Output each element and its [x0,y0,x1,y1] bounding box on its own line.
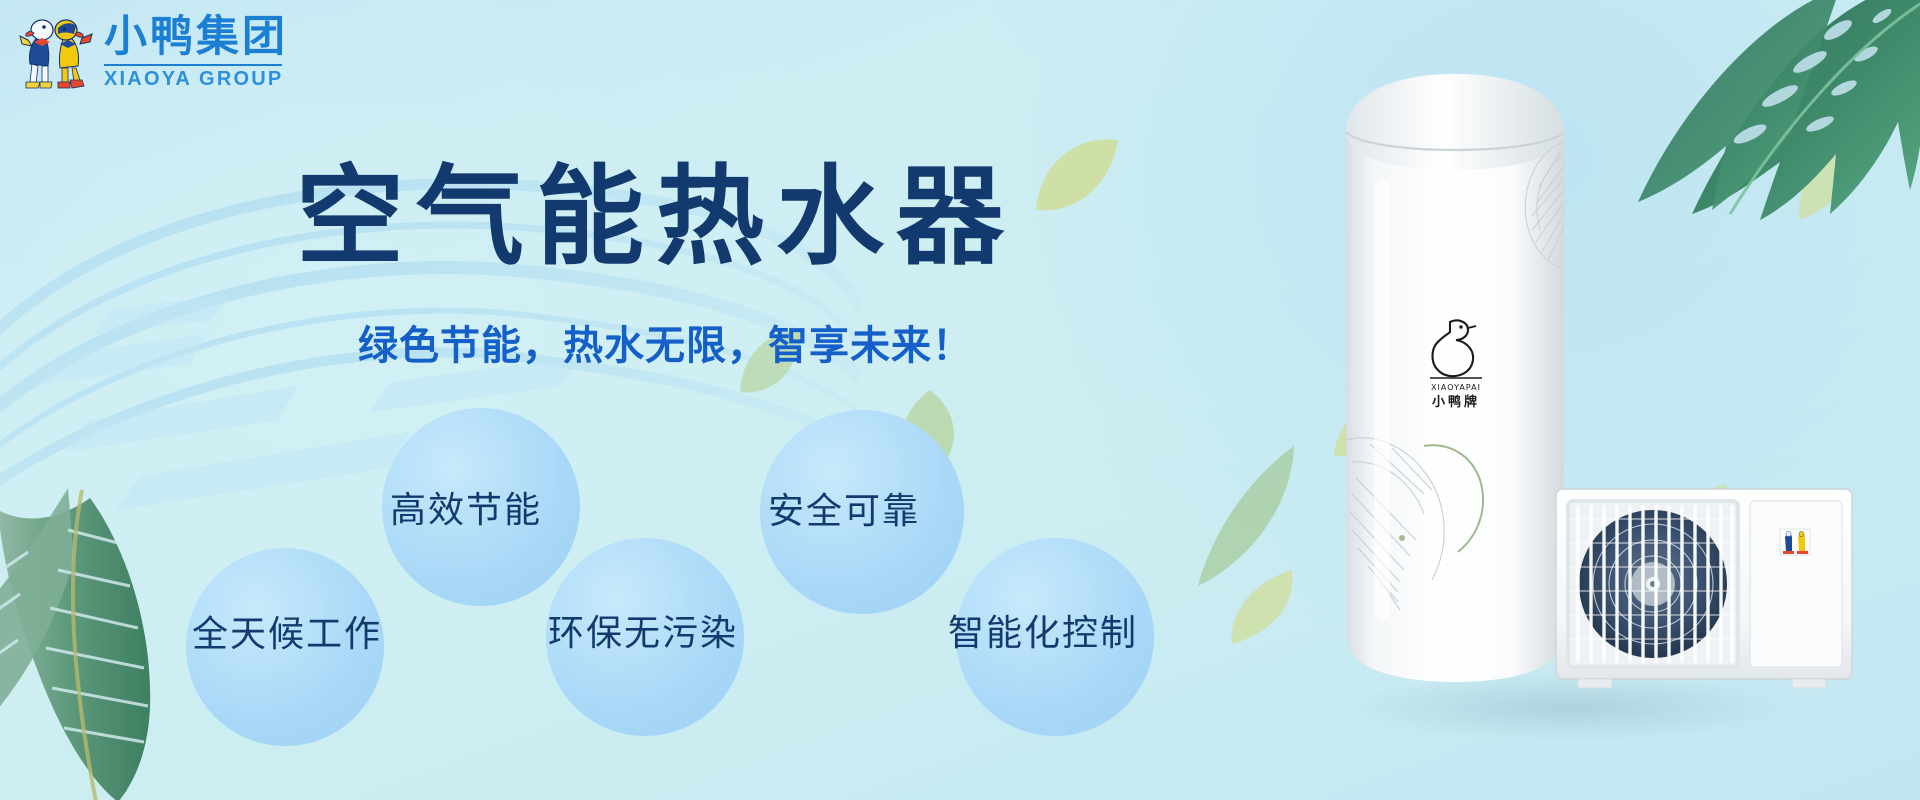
duck-badge-icon [1780,529,1810,555]
logo-wordmark: 小鸭集团 XIAOYA GROUP [104,15,288,90]
headline-block: 空气能热水器 绿色节能，热水无限，智享未来！ [296,160,1176,371]
feature-label-1: 全天候工作 [192,605,382,657]
feature-label-4: 智能化控制 [948,604,1138,656]
banana-leaf-icon [0,482,212,800]
water-heater-tank-icon[interactable]: XIAOYAPAI 小鸭牌 [1340,70,1570,690]
svg-text:小鸭牌: 小鸭牌 [1432,394,1480,410]
svg-text:XIAOYAPAI: XIAOYAPAI [1431,383,1481,392]
heat-pump-outdoor-unit-icon[interactable] [1554,485,1854,695]
product-group: XIAOYAPAI 小鸭牌 [1290,60,1850,760]
logo-chinese-name: 小鸭集团 [104,15,288,60]
page-title: 空气能热水器 [296,160,1176,277]
brand-logo[interactable]: 小鸭集团 XIAOYA GROUP [18,12,288,94]
feature-label-0: 高效节能 [390,481,542,533]
promo-banner: 小鸭集团 XIAOYA GROUP 空气能热水器 绿色节能，热水无限，智享未来！… [0,0,1920,800]
duck-mascots-icon [18,12,94,94]
logo-english-name: XIAOYA GROUP [104,68,283,91]
page-subtitle: 绿色节能，热水无限，智享未来！ [358,313,1176,371]
feature-label-3: 安全可靠 [768,482,920,534]
logo-divider [104,64,282,66]
feature-label-2: 环保无污染 [548,604,738,656]
